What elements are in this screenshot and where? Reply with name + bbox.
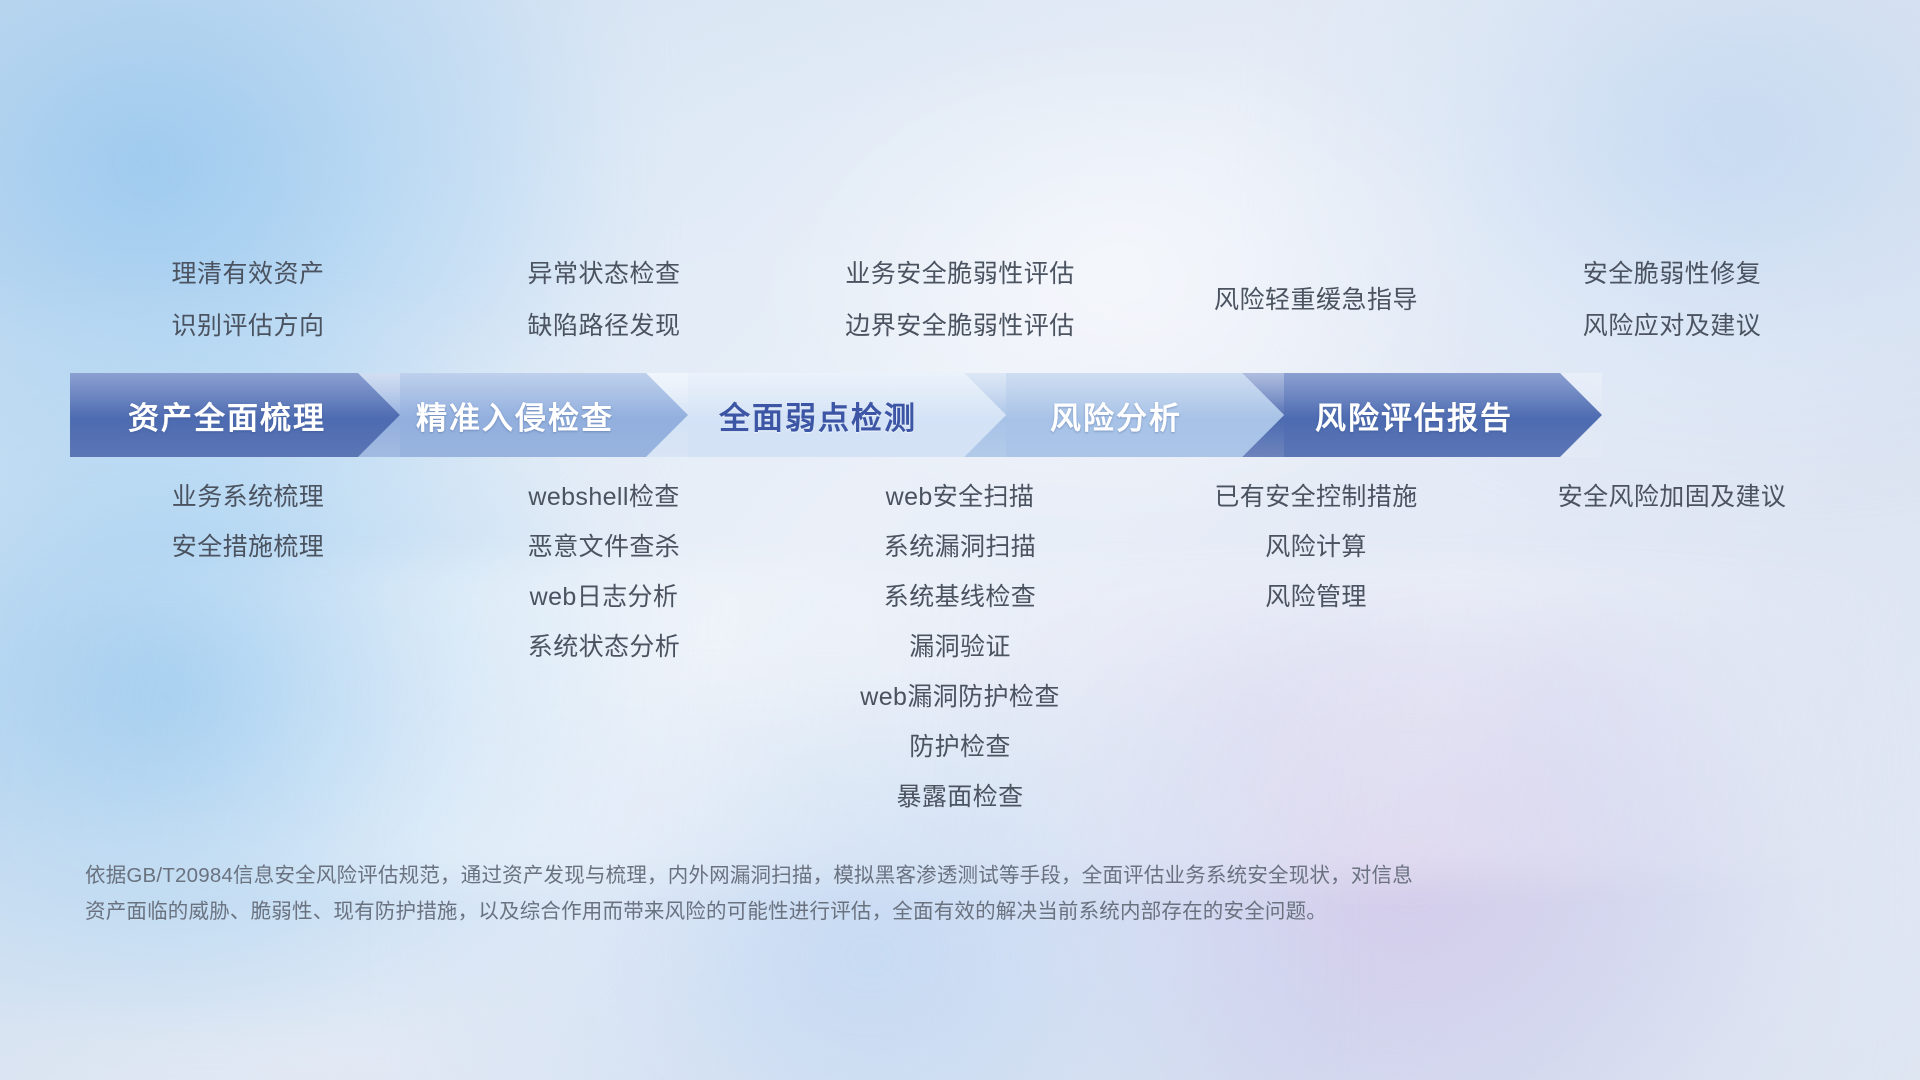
bottom-item: 暴露面检查 — [782, 772, 1138, 822]
top-item: 异常状态检查 — [426, 248, 782, 300]
footer-description: 依据GB/T20984信息安全风险评估规范，通过资产发现与梳理，内外网漏洞扫描，… — [85, 858, 1615, 930]
top-item-list: 异常状态检查 缺陷路径发现 — [426, 248, 782, 352]
process-chevron-band: 资产全面梳理 精准入侵检查 全面弱点检测 风险分析 风险评估报告 — [70, 373, 1860, 457]
chevron-stage-asset-inventory[interactable]: 资产全面梳理 — [70, 373, 400, 457]
top-item-list: 业务安全脆弱性评估 边界安全脆弱性评估 — [782, 248, 1138, 352]
bottom-item-list: web安全扫描 系统漏洞扫描 系统基线检查 漏洞验证 web漏洞防护检查 防护检… — [782, 472, 1138, 822]
bottom-item: 安全措施梳理 — [70, 522, 426, 572]
chevron-stage-weakness-detection[interactable]: 全面弱点检测 — [646, 373, 1006, 457]
bottom-item: web日志分析 — [426, 572, 782, 622]
top-item: 业务安全脆弱性评估 — [782, 248, 1138, 300]
bottom-item: webshell检查 — [426, 472, 782, 522]
top-item: 识别评估方向 — [70, 300, 426, 352]
bottom-item-list: webshell检查 恶意文件查杀 web日志分析 系统状态分析 — [426, 472, 782, 672]
chevron-label: 风险评估报告 — [1315, 393, 1529, 438]
bottom-item: 安全风险加固及建议 — [1494, 472, 1850, 522]
footer-line-1: 依据GB/T20984信息安全风险评估规范，通过资产发现与梳理，内外网漏洞扫描，… — [85, 858, 1615, 894]
chevron-stage-risk-report[interactable]: 风险评估报告 — [1242, 373, 1602, 457]
top-item: 风险应对及建议 — [1494, 300, 1850, 352]
bottom-item: 防护检查 — [782, 722, 1138, 772]
slide-canvas: 理清有效资产 识别评估方向 业务系统梳理 安全措施梳理 异常状态检查 缺陷路径发… — [0, 0, 1920, 1080]
bottom-item: 系统基线检查 — [782, 572, 1138, 622]
top-item: 边界安全脆弱性评估 — [782, 300, 1138, 352]
top-item: 缺陷路径发现 — [426, 300, 782, 352]
bottom-item: 业务系统梳理 — [70, 472, 426, 522]
top-item: 理清有效资产 — [70, 248, 426, 300]
bottom-item: web漏洞防护检查 — [782, 672, 1138, 722]
chevron-label: 精准入侵检查 — [416, 393, 630, 438]
bottom-item-list: 安全风险加固及建议 — [1494, 472, 1850, 522]
bottom-item: 恶意文件查杀 — [426, 522, 782, 572]
bottom-item: 风险计算 — [1138, 522, 1494, 572]
chevron-label: 资产全面梳理 — [128, 393, 342, 438]
top-item-list: 风险轻重缓急指导 — [1138, 274, 1494, 326]
bottom-item-list: 业务系统梳理 安全措施梳理 — [70, 472, 426, 572]
top-item: 安全脆弱性修复 — [1494, 248, 1850, 300]
bottom-item: 系统漏洞扫描 — [782, 522, 1138, 572]
bottom-item: web安全扫描 — [782, 472, 1138, 522]
bottom-item-list: 已有安全控制措施 风险计算 风险管理 — [1138, 472, 1494, 622]
chevron-stage-intrusion-check[interactable]: 精准入侵检查 — [358, 373, 688, 457]
chevron-stage-risk-analysis[interactable]: 风险分析 — [964, 373, 1284, 457]
top-item-list: 安全脆弱性修复 风险应对及建议 — [1494, 248, 1850, 352]
bottom-item: 漏洞验证 — [782, 622, 1138, 672]
bottom-item: 风险管理 — [1138, 572, 1494, 622]
bottom-item: 系统状态分析 — [426, 622, 782, 672]
top-item: 风险轻重缓急指导 — [1138, 274, 1494, 326]
bottom-item: 已有安全控制措施 — [1138, 472, 1494, 522]
footer-line-2: 资产面临的威胁、脆弱性、现有防护措施，以及综合作用而带来风险的可能性进行评估，全… — [85, 894, 1615, 930]
chevron-label: 风险分析 — [1050, 393, 1198, 438]
top-item-list: 理清有效资产 识别评估方向 — [70, 248, 426, 352]
chevron-label: 全面弱点检测 — [719, 393, 933, 438]
